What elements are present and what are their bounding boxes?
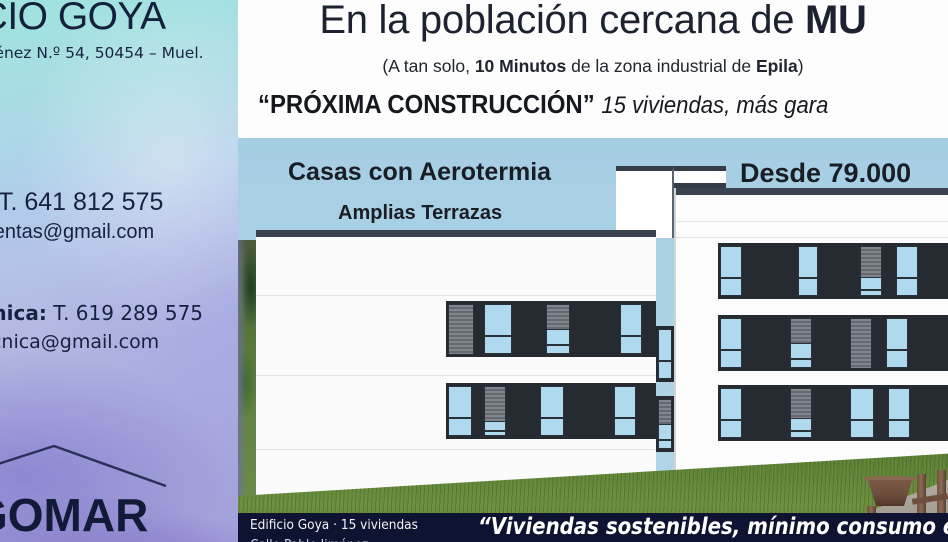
facade-band: [256, 375, 656, 376]
window-cell: [788, 385, 814, 441]
window-cell: [446, 383, 474, 439]
facade-panel: [572, 301, 618, 357]
window-glass: [546, 329, 570, 354]
window-ribbon-lower-left: [446, 383, 656, 439]
flyer-header: En la población cercana de MU (A tan sol…: [238, 0, 948, 138]
facade-panel: [884, 243, 894, 299]
headline-location-town: MU: [805, 0, 867, 42]
sidebar-address: a Jiménez N.º 54, 50454 – Muel.: [0, 44, 204, 62]
shutter-blind: [860, 246, 882, 281]
window-glass: [448, 386, 472, 436]
headline-location: En la población cercana de MU: [319, 0, 866, 43]
window-glass: [614, 386, 636, 436]
caption-bar: Edificio Goya · 15 viviendas Calle Pablo…: [238, 513, 948, 542]
sidebar-tech-email[interactable]: rtecnica@gmail.com: [0, 331, 159, 353]
facade-panel: [566, 383, 612, 439]
sidebar-tech-label: Técnica:: [0, 301, 47, 325]
window-glass: [658, 424, 672, 449]
window-glass: [860, 277, 882, 296]
window-glass: [720, 388, 742, 438]
facade-band: [256, 449, 656, 450]
facade-panel: [644, 301, 656, 357]
window-cell: [788, 315, 814, 371]
sidebar-tech-phone[interactable]: Técnica: T. 619 289 575: [0, 301, 203, 325]
window-glass: [886, 318, 908, 368]
sidebar-sales-email[interactable]: arventas@gmail.com: [0, 221, 154, 244]
window-cell: [884, 315, 910, 371]
window-glass: [720, 318, 742, 368]
sidebar-tech-number: T. 619 289 575: [53, 301, 203, 325]
window-glass: [484, 421, 506, 436]
window-cell: [656, 396, 674, 452]
building-block-left: [256, 230, 656, 500]
window-glass: [896, 246, 918, 296]
facade-seam: [674, 188, 676, 500]
headline-subline: (A tan solo, 10 Minutos de la zona indus…: [382, 56, 803, 77]
construction-label: “PRÓXIMA CONSTRUCCIÓN”: [258, 89, 595, 119]
subline-minutes: 10 Minutos: [475, 56, 566, 76]
building-render: Casas con Aerotermia Amplias Terrazas De…: [238, 138, 948, 542]
facade-panel: [910, 315, 938, 371]
shutter-blind: [658, 399, 672, 427]
window-cell: [848, 315, 874, 371]
facade-panel: [744, 315, 788, 371]
subline-post: ): [798, 56, 804, 76]
stair-tower: [616, 166, 674, 238]
window-glass: [798, 246, 818, 296]
overlay-feature-aerotermia: Casas con Aerotermia: [288, 158, 551, 187]
window-cell: [482, 383, 508, 439]
window-cell: [848, 385, 876, 441]
facade-panel: [874, 315, 884, 371]
building-block-right: [674, 188, 948, 500]
facade-band: [674, 221, 948, 222]
window-ribbon-edge: [656, 396, 674, 452]
window-glass: [790, 418, 812, 438]
facade-panel: [912, 385, 938, 441]
headline-construction: “PRÓXIMA CONSTRUCCIÓN” 15 viviendas, más…: [258, 89, 828, 120]
window-cell: [718, 243, 744, 299]
caption-project: Edificio Goya · 15 viviendas: [250, 517, 418, 533]
overlay-price: Desde 79.000: [740, 158, 911, 189]
facade-band: [674, 237, 948, 238]
facade-panel: [638, 383, 656, 439]
caption-project-sub: Calle Pablo Jiménez: [250, 537, 368, 542]
roof-peak-icon: [0, 440, 170, 490]
sidebar-brand-name: GOMAR: [0, 488, 148, 542]
facade-panel: [814, 315, 848, 371]
window-glass: [658, 329, 672, 379]
window-glass: [850, 388, 874, 438]
shutter-blind: [850, 318, 872, 368]
window-glass: [790, 343, 812, 368]
construction-detail: 15 viviendas, más gara: [601, 92, 828, 119]
facade-panel: [508, 383, 538, 439]
subline-pre: (A tan solo,: [382, 56, 474, 76]
window-glass: [720, 246, 742, 296]
caption-quote: “Viviendas sostenibles, mínimo consumo e…: [478, 514, 948, 540]
window-cell: [618, 301, 644, 357]
facade-panel: [876, 385, 886, 441]
window-cell: [538, 383, 566, 439]
window-cell: [886, 385, 912, 441]
shutter-blind: [546, 304, 570, 332]
shutter-blind: [790, 388, 812, 422]
shutter-blind: [448, 304, 474, 354]
subline-town: Epila: [756, 56, 798, 76]
shutter-blind: [790, 318, 812, 346]
stair-tower-cap: [674, 166, 726, 188]
window-cell: [656, 326, 674, 382]
flyer-screenshot: FICIO GOYA a Jiménez N.º 54, 50454 – Mue…: [0, 0, 948, 542]
facade-panel: [744, 243, 796, 299]
facade-panel: [814, 385, 848, 441]
shutter-blind: [484, 386, 506, 425]
facade-panel: [514, 301, 544, 357]
window-cell: [446, 301, 476, 357]
flyer-panel: En la población cercana de MU (A tan sol…: [238, 0, 948, 542]
overlay-feature-terrazas: Amplias Terrazas: [338, 202, 502, 225]
window-glass: [620, 304, 642, 354]
window-ribbon-floor1: [718, 385, 948, 441]
facade-panel: [744, 385, 788, 441]
contact-sidebar: FICIO GOYA a Jiménez N.º 54, 50454 – Mue…: [0, 0, 238, 542]
window-glass: [888, 388, 910, 438]
subline-mid: de la zona industrial de: [566, 56, 756, 76]
window-cell: [544, 301, 572, 357]
vegetation-shade: [238, 240, 246, 500]
window-cell: [796, 243, 820, 299]
window-cell: [858, 243, 884, 299]
window-cell: [718, 385, 744, 441]
facade-panel: [820, 243, 858, 299]
facade-panel: [920, 243, 948, 299]
sidebar-sales-phone[interactable]: s: T. 641 812 575: [0, 188, 163, 217]
sidebar-project-title: FICIO GOYA: [0, 0, 166, 39]
facade-band: [256, 295, 656, 296]
window-glass: [540, 386, 564, 436]
window-ribbon-floor3: [718, 243, 948, 299]
facade-panel: [474, 383, 482, 439]
window-ribbon-upper-left: [446, 301, 656, 357]
window-glass: [484, 304, 512, 354]
window-cell: [718, 315, 744, 371]
window-cell: [612, 383, 638, 439]
headline-location-prefix: En la población cercana de: [319, 0, 805, 42]
window-ribbon-floor2: [718, 315, 948, 371]
window-cell: [894, 243, 920, 299]
window-ribbon-edge: [656, 326, 674, 382]
window-cell: [482, 301, 514, 357]
